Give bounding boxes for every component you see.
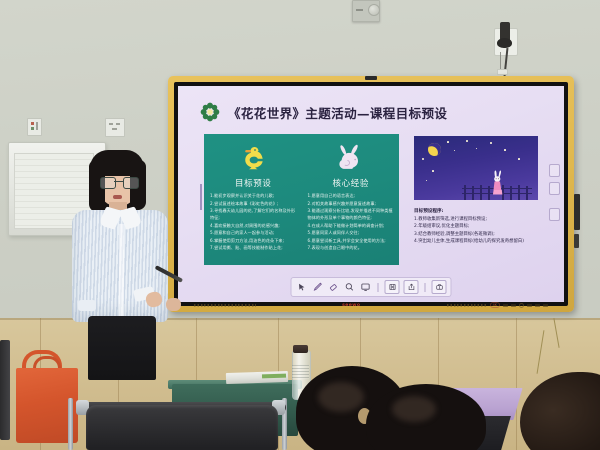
board-screen[interactable]: 《花花世界》主题活动—课程目标预设 <box>178 86 564 302</box>
procedure-list: 1.教师收集新筛选,进行课程目标预设; 2.年级组审议,优化主题目标; 3.结合… <box>414 216 546 247</box>
slide-side-chip[interactable] <box>549 182 560 195</box>
goals-item: 1.能初步观察并认识关于花的儿歌; <box>210 192 297 199</box>
pen-icon[interactable] <box>312 281 324 293</box>
star <box>490 142 492 144</box>
goals-item: 6.掌握使用剪刀方法,用油色的花朵下来; <box>210 237 297 244</box>
presenter-mouth <box>113 195 122 199</box>
board-speaker-vent <box>194 304 256 307</box>
star <box>504 149 506 151</box>
spotlight-icon[interactable] <box>360 281 372 293</box>
share-icon[interactable] <box>404 280 419 294</box>
procedure-item: 1.教师收集新筛选,进行课程目标预设; <box>414 216 546 224</box>
board-toolbar[interactable] <box>291 277 452 297</box>
experience-item: 4.在成人帮助下能做计划简单的调查计划; <box>308 222 395 229</box>
power-outlet-left <box>27 118 42 136</box>
audience-head-highlight <box>392 396 436 422</box>
goals-column: 目标预设 1.能初步观察并认识关于花的儿歌; 2.尝试复述绘本故事《彩虹色的花》… <box>204 134 302 265</box>
board-port[interactable] <box>535 304 540 307</box>
audience-head-highlight <box>318 382 364 412</box>
fence-post <box>480 185 482 200</box>
cursor-icon[interactable] <box>296 281 308 293</box>
board-side-connector[interactable] <box>574 194 580 230</box>
fence-post <box>510 186 512 200</box>
board-speaker-vent <box>447 304 487 307</box>
night-scene-with-rabbit <box>414 136 538 200</box>
goals-item: 4.喜欢接触大自然,对周围的花感兴趣; <box>210 222 297 229</box>
presenter-hand <box>166 298 181 311</box>
presenter <box>62 150 202 380</box>
outlet-slot <box>116 123 120 125</box>
procedure-panel: 目标预设程序: 1.教师收集新筛选,进行课程目标预设; 2.年级组审议,优化主题… <box>414 208 546 246</box>
experience-item: 6.愿意尝试新工具,并学会安全使用的方法; <box>308 237 395 244</box>
procedure-item: 2.年级组审议,优化主题目标; <box>414 223 546 231</box>
outlet-slot <box>109 123 113 125</box>
ceiling-sensor-knob <box>368 4 380 16</box>
water-bottle-label <box>292 365 309 379</box>
board-bezel-controls: 4K <box>447 302 548 308</box>
star <box>447 141 449 143</box>
presenter-glasses <box>100 177 137 187</box>
fence-post <box>518 185 520 200</box>
experience-item: 3.能通过观察分析比较,发现并描述不同种类植物体的外形及单个事物的颜色特征; <box>308 207 395 221</box>
slide-title: 《花花世界》主题活动—课程目标预设 <box>228 103 447 122</box>
board-port[interactable] <box>503 304 508 307</box>
toolbox-icon[interactable] <box>432 280 447 294</box>
board-bottom-bezel: seewo 4K <box>168 299 574 311</box>
wall-camera-clip <box>497 69 508 75</box>
goals-item: 3.寻找春天幼儿园的花,了解它们的名称及外形特征; <box>210 207 297 221</box>
smart-whiteboard[interactable]: 《花花世界》主题活动—课程目标预设 <box>168 76 574 312</box>
star <box>476 148 477 149</box>
star <box>432 170 434 172</box>
procedure-heading: 目标预设程序: <box>414 208 546 214</box>
outlet-indicator-red <box>31 122 34 125</box>
procedure-item: 3.结合教师经验,调整主题目标(各班微调); <box>414 231 546 239</box>
eraser-icon[interactable] <box>328 281 340 293</box>
goals-item: 7.尝试用撕、贴、画等技能制作贴上花; <box>210 244 297 251</box>
goals-item: 5.愿意和自己的家人一起参与活动; <box>210 229 297 236</box>
board-bezel: 《花花世界》主题活动—课程目标预设 <box>174 82 568 306</box>
board-camera-icon <box>365 76 377 80</box>
magnifier-icon[interactable] <box>344 281 356 293</box>
experience-item: 1.愿意用自己的语言表达; <box>308 192 395 199</box>
experience-column: 核心经验 1.愿意用自己的语言表达; 2.对相关故事感兴趣并愿意复述故事; 3.… <box>302 134 400 265</box>
flower-icon <box>200 102 220 122</box>
chair-frame-left <box>0 340 10 440</box>
toolbar-separator <box>378 283 379 292</box>
board-port[interactable] <box>527 304 532 307</box>
toolbar-separator <box>425 283 426 292</box>
star <box>422 158 424 160</box>
presenter-cuff <box>78 300 96 311</box>
chair-leg <box>68 398 73 450</box>
board-side-connector[interactable] <box>574 234 579 248</box>
experience-item: 2.对相关故事感兴趣并愿意复述故事; <box>308 200 395 207</box>
goals-panel: 目标预设 1.能初步观察并认识关于花的儿歌; 2.尝试复述绘本故事《彩虹色的花》… <box>204 134 399 265</box>
fence-post <box>464 185 466 200</box>
black-chair <box>86 405 278 450</box>
rabbit-icon <box>335 143 366 174</box>
experience-column-list: 1.愿意用自己的语言表达; 2.对相关故事感兴趣并愿意复述故事; 3.能通过观察… <box>308 192 395 251</box>
power-outlet-right <box>105 118 125 137</box>
duck-icon-wrap <box>210 140 297 174</box>
experience-column-heading: 核心经验 <box>308 177 395 189</box>
board-port[interactable] <box>543 304 548 307</box>
pink-rabbit <box>490 170 505 197</box>
rabbit-icon-wrap <box>308 140 395 174</box>
wood-seam <box>516 318 517 450</box>
board-port[interactable] <box>511 304 516 307</box>
star <box>426 180 427 181</box>
star <box>454 150 455 151</box>
experience-item: 5.愿意同家人或同伴人交往; <box>308 229 395 236</box>
presenter-shirt-placket <box>119 224 124 318</box>
outlet-indicator-green <box>31 127 34 130</box>
procedure-item: 4.突出幼儿主体,生成课程目标(给幼儿的探究发奇想留白) <box>414 238 546 246</box>
classroom-presentation-scene: 《花花世界》主题活动—课程目标预设 <box>0 0 600 450</box>
board-power-button[interactable] <box>519 303 524 308</box>
slide-title-row: 《花花世界》主题活动—课程目标预设 <box>200 102 447 122</box>
save-icon[interactable] <box>385 280 400 294</box>
goals-column-heading: 目标预设 <box>210 177 297 189</box>
water-bottle-cap <box>293 345 308 353</box>
slide-side-chip[interactable] <box>549 164 560 177</box>
moon-icon <box>426 141 443 158</box>
duck-icon <box>238 144 268 174</box>
slide-side-chip[interactable] <box>549 208 560 221</box>
green-book <box>262 374 286 379</box>
goals-item: 2.尝试复述绘本故事《彩虹色的花》; <box>210 200 297 207</box>
fence-post <box>526 186 528 200</box>
experience-item: 7.表现与创造自己眼中的花。 <box>308 244 395 251</box>
outlet-slot <box>112 128 117 130</box>
goals-column-list: 1.能初步观察并认识关于花的儿歌; 2.尝试复述绘本故事《彩虹色的花》; 3.寻… <box>210 192 297 251</box>
outlet-slot <box>36 122 38 130</box>
presenter-skirt <box>88 316 156 380</box>
resolution-badge: 4K <box>490 302 500 308</box>
wall-camera-lens <box>497 38 512 48</box>
board-brand-logo: seewo <box>342 303 360 308</box>
fence-post <box>472 186 474 200</box>
star <box>466 140 468 142</box>
star <box>518 158 520 160</box>
ceiling-sensor-slit <box>356 9 363 11</box>
